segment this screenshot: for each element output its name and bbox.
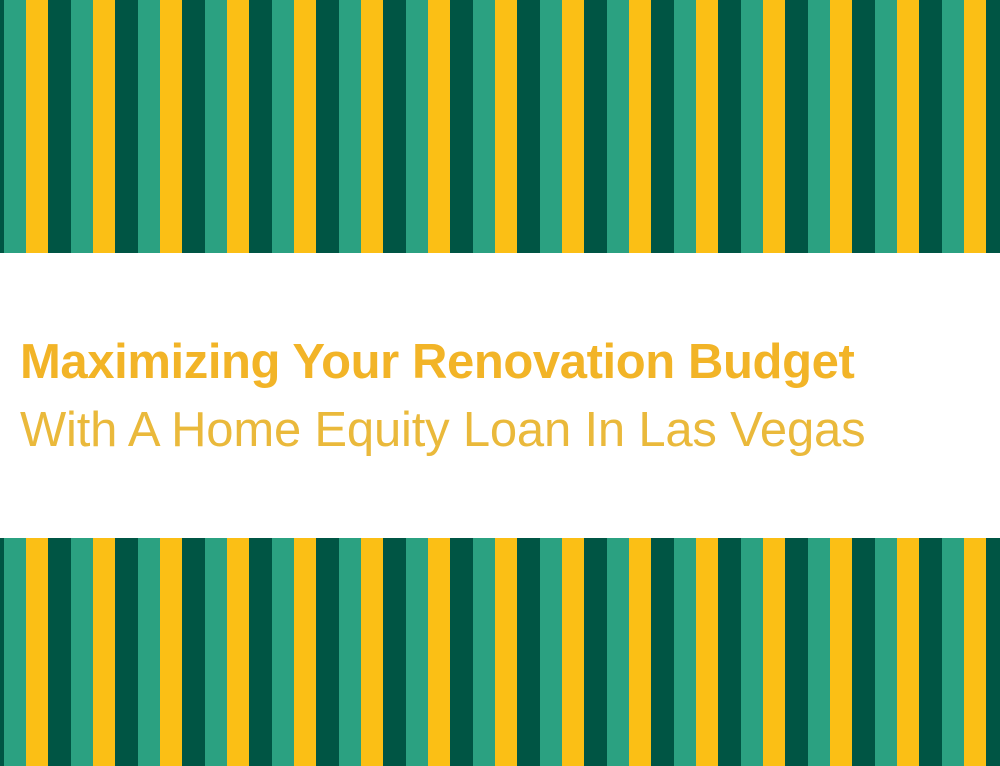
stripe-teal bbox=[138, 538, 160, 766]
stripe-dark-green bbox=[193, 538, 206, 766]
stripe-dark-green bbox=[729, 0, 742, 253]
stripe-band-bottom bbox=[0, 538, 1000, 766]
stripe-teal bbox=[808, 538, 830, 766]
stripe-dark-green bbox=[48, 538, 59, 766]
stripe-band-top bbox=[0, 0, 1000, 253]
stripe-dark-green bbox=[193, 0, 206, 253]
stripe-yellow bbox=[428, 0, 451, 253]
stripe-yellow bbox=[830, 538, 853, 766]
stripe-dark-green bbox=[461, 538, 474, 766]
stripe-yellow bbox=[964, 0, 987, 253]
page-title: Maximizing Your Renovation Budget bbox=[20, 331, 982, 393]
stripe-yellow bbox=[26, 538, 49, 766]
stripe-yellow bbox=[897, 538, 920, 766]
stripe-yellow bbox=[294, 538, 317, 766]
stripe-dark-green bbox=[517, 538, 528, 766]
stripe-dark-green bbox=[517, 0, 528, 253]
stripe-dark-green bbox=[126, 538, 139, 766]
stripe-yellow bbox=[562, 0, 585, 253]
stripe-dark-green bbox=[528, 538, 541, 766]
stripe-teal bbox=[4, 538, 26, 766]
stripe-dark-green bbox=[59, 0, 72, 253]
stripe-dark-green bbox=[919, 0, 930, 253]
page-subtitle: With A Home Equity Loan In Las Vegas bbox=[20, 399, 982, 461]
stripe-teal bbox=[473, 0, 495, 253]
stripe-dark-green bbox=[729, 538, 742, 766]
stripe-yellow bbox=[629, 0, 652, 253]
stripe-yellow bbox=[495, 0, 518, 253]
stripe-dark-green bbox=[796, 0, 809, 253]
stripe-dark-green bbox=[651, 538, 662, 766]
stripe-yellow bbox=[830, 0, 853, 253]
title-panel: Maximizing Your Renovation Budget With A… bbox=[0, 253, 1000, 538]
stripe-yellow bbox=[361, 0, 384, 253]
stripe-dark-green bbox=[59, 538, 72, 766]
stripe-yellow bbox=[964, 538, 987, 766]
stripe-dark-green bbox=[327, 538, 340, 766]
stripe-yellow bbox=[495, 538, 518, 766]
stripe-dark-green bbox=[461, 0, 474, 253]
stripe-yellow bbox=[763, 538, 786, 766]
stripe-teal bbox=[272, 538, 294, 766]
stripe-dark-green bbox=[930, 0, 943, 253]
stripe-dark-green bbox=[584, 0, 595, 253]
stripe-teal bbox=[741, 0, 763, 253]
stripe-teal bbox=[71, 538, 93, 766]
stripe-dark-green bbox=[584, 538, 595, 766]
stripe-dark-green bbox=[852, 538, 863, 766]
stripe-dark-green bbox=[528, 0, 541, 253]
stripe-dark-green bbox=[785, 0, 796, 253]
stripe-dark-green bbox=[316, 0, 327, 253]
stripe-teal bbox=[272, 0, 294, 253]
stripe-yellow bbox=[160, 538, 183, 766]
stripe-dark-green bbox=[249, 538, 260, 766]
stripe-teal bbox=[674, 538, 696, 766]
stripe-dark-green bbox=[986, 538, 997, 766]
stripe-teal bbox=[607, 538, 629, 766]
stripe-teal bbox=[339, 538, 361, 766]
stripe-teal bbox=[540, 538, 562, 766]
stripe-dark-green bbox=[595, 0, 608, 253]
stripe-dark-green bbox=[595, 538, 608, 766]
stripe-dark-green bbox=[316, 538, 327, 766]
stripe-dark-green bbox=[863, 0, 876, 253]
stripe-dark-green bbox=[986, 0, 997, 253]
stripe-teal bbox=[339, 0, 361, 253]
stripe-yellow bbox=[897, 0, 920, 253]
stripe-teal bbox=[4, 0, 26, 253]
stripe-dark-green bbox=[260, 0, 273, 253]
stripe-dark-green bbox=[48, 0, 59, 253]
poster-canvas: Maximizing Your Renovation Budget With A… bbox=[0, 0, 1000, 766]
stripe-teal bbox=[942, 0, 964, 253]
stripe-teal bbox=[875, 0, 897, 253]
stripe-dark-green bbox=[930, 538, 943, 766]
stripe-teal bbox=[205, 0, 227, 253]
stripe-yellow bbox=[294, 0, 317, 253]
stripe-dark-green bbox=[662, 0, 675, 253]
stripe-dark-green bbox=[718, 0, 729, 253]
stripe-yellow bbox=[227, 538, 250, 766]
stripe-dark-green bbox=[785, 538, 796, 766]
stripe-yellow bbox=[696, 538, 719, 766]
stripe-teal bbox=[473, 538, 495, 766]
stripe-teal bbox=[71, 0, 93, 253]
stripe-dark-green bbox=[450, 538, 461, 766]
stripe-dark-green bbox=[115, 0, 126, 253]
stripe-yellow bbox=[93, 538, 116, 766]
stripe-dark-green bbox=[919, 538, 930, 766]
stripe-dark-green bbox=[115, 538, 126, 766]
stripe-dark-green bbox=[796, 538, 809, 766]
stripe-teal bbox=[138, 0, 160, 253]
stripe-teal bbox=[406, 538, 428, 766]
stripe-dark-green bbox=[651, 0, 662, 253]
stripe-yellow bbox=[93, 0, 116, 253]
stripe-yellow bbox=[629, 538, 652, 766]
stripe-teal bbox=[607, 0, 629, 253]
stripe-dark-green bbox=[249, 0, 260, 253]
stripe-dark-green bbox=[662, 538, 675, 766]
stripe-dark-green bbox=[126, 0, 139, 253]
stripe-yellow bbox=[428, 538, 451, 766]
stripe-dark-green bbox=[182, 538, 193, 766]
stripe-dark-green bbox=[260, 538, 273, 766]
stripe-dark-green bbox=[327, 0, 340, 253]
stripe-dark-green bbox=[852, 0, 863, 253]
stripe-teal bbox=[875, 538, 897, 766]
stripe-yellow bbox=[763, 0, 786, 253]
stripe-teal bbox=[741, 538, 763, 766]
stripe-teal bbox=[942, 538, 964, 766]
stripe-yellow bbox=[160, 0, 183, 253]
stripe-dark-green bbox=[394, 0, 407, 253]
stripe-dark-green bbox=[863, 538, 876, 766]
stripe-teal bbox=[674, 0, 696, 253]
stripe-yellow bbox=[696, 0, 719, 253]
stripe-yellow bbox=[562, 538, 585, 766]
stripe-yellow bbox=[361, 538, 384, 766]
stripe-dark-green bbox=[394, 538, 407, 766]
stripe-dark-green bbox=[383, 0, 394, 253]
stripe-dark-green bbox=[450, 0, 461, 253]
stripe-yellow bbox=[227, 0, 250, 253]
stripe-teal bbox=[540, 0, 562, 253]
stripe-yellow bbox=[26, 0, 49, 253]
stripe-dark-green bbox=[182, 0, 193, 253]
stripe-teal bbox=[808, 0, 830, 253]
stripe-dark-green bbox=[718, 538, 729, 766]
stripe-teal bbox=[205, 538, 227, 766]
stripe-teal bbox=[406, 0, 428, 253]
stripe-dark-green bbox=[383, 538, 394, 766]
